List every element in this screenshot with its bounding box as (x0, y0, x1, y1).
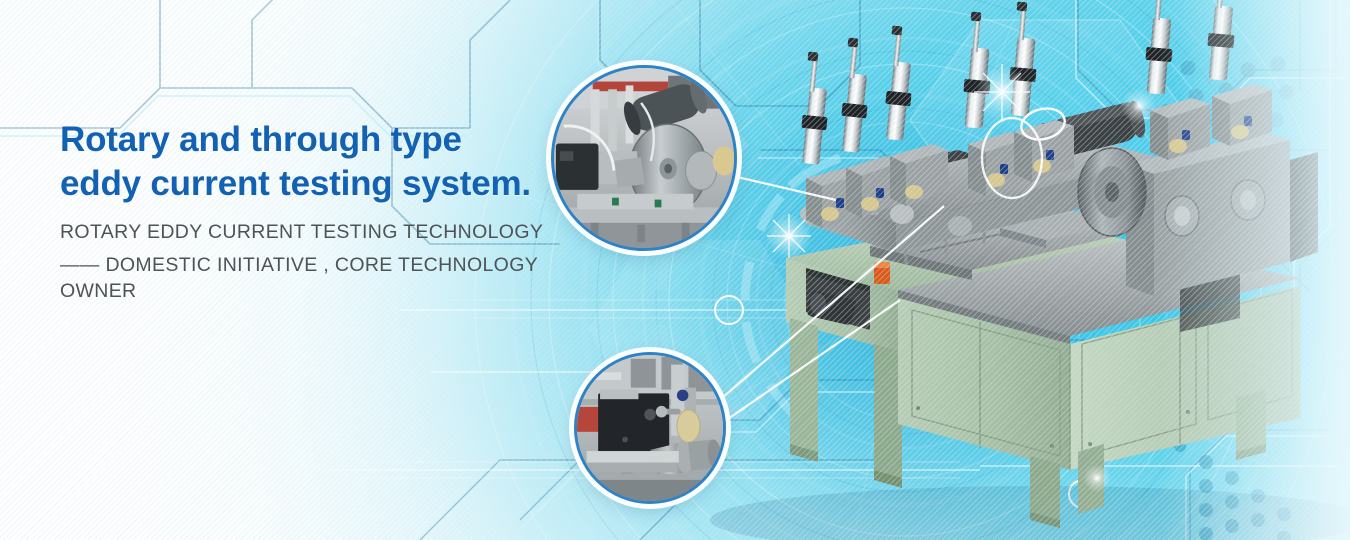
hero-banner: Rotary and through type eddy current tes… (0, 0, 1350, 540)
headline-line-2: eddy current testing system. (60, 162, 590, 206)
headline-line-1: Rotary and through type (60, 120, 462, 159)
subtitle-line-1: ROTARY EDDY CURRENT TESTING TECHNOLOGY (60, 219, 590, 245)
background-right-fade (1160, 0, 1350, 540)
headline-block: Rotary and through type eddy current tes… (60, 118, 590, 304)
inset-photo-2-image (577, 355, 723, 501)
subtitle-line-2: —— DOMESTIC INITIATIVE , CORE TECHNOLOGY… (60, 252, 590, 305)
page-title: Rotary and through type eddy current tes… (60, 118, 590, 206)
inset-photo-through-coil[interactable] (574, 352, 726, 504)
